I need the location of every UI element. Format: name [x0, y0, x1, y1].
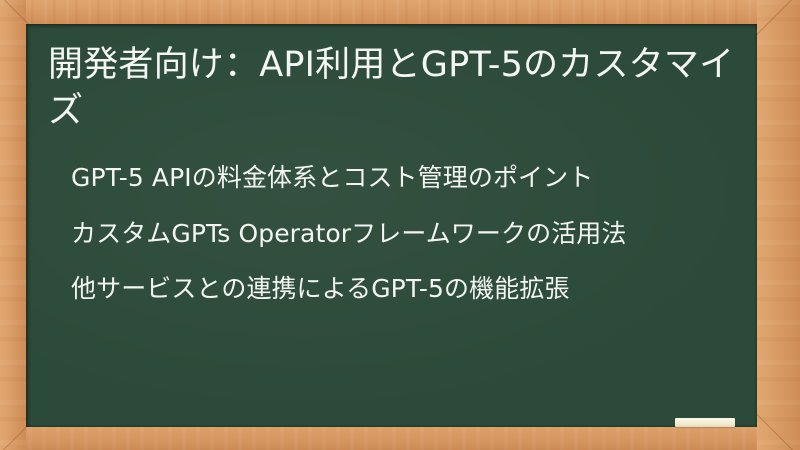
bullet-item-1: GPT-5 APIの料金体系とコスト管理のポイント [71, 164, 735, 192]
frame-rail-top [0, 0, 800, 24]
frame-rail-bottom [0, 427, 800, 450]
bullet-list: GPT-5 APIの料金体系とコスト管理のポイント カスタムGPTs Opera… [48, 164, 735, 303]
board-content: 開発者向け：API利用とGPT-5のカスタマイズ GPT-5 APIの料金体系と… [26, 24, 757, 427]
bullet-item-2: カスタムGPTs Operatorフレームワークの活用法 [71, 220, 735, 248]
chalk-stick [675, 418, 735, 427]
frame-stile-left [0, 0, 26, 450]
slide-title: 開発者向け：API利用とGPT-5のカスタマイズ [48, 43, 735, 134]
bullet-item-3: 他サービスとの連携によるGPT-5の機能拡張 [71, 275, 735, 303]
frame-stile-right [757, 0, 800, 450]
chalkboard-surface: 開発者向け：API利用とGPT-5のカスタマイズ GPT-5 APIの料金体系と… [26, 24, 757, 427]
chalkboard-slide: 開発者向け：API利用とGPT-5のカスタマイズ GPT-5 APIの料金体系と… [0, 0, 800, 450]
